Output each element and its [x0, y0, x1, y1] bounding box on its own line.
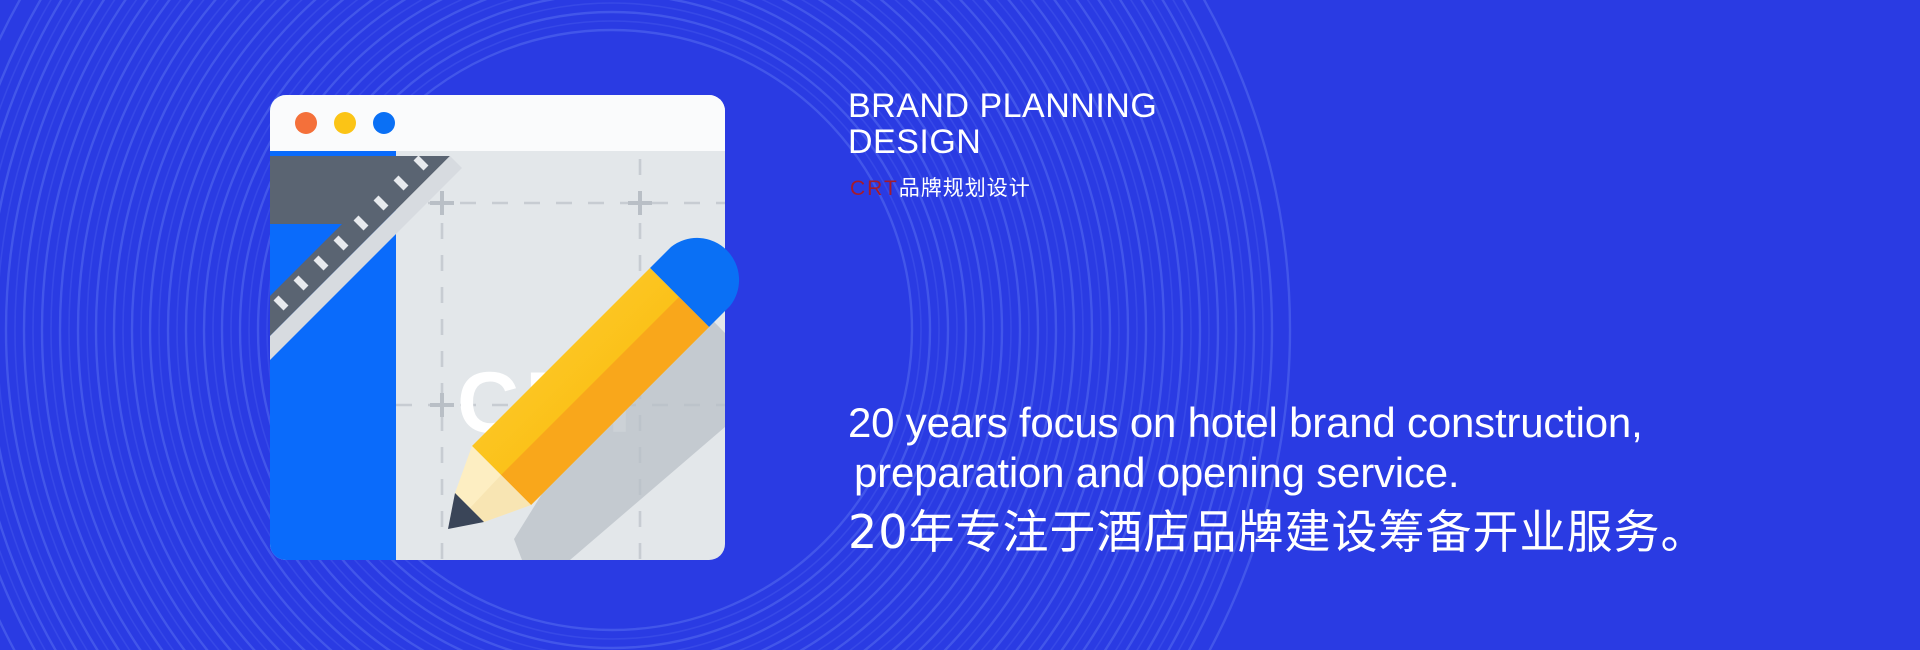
eyebrow-subtitle-cn: 品牌规划设计: [899, 176, 1031, 200]
eyebrow-line-1: BRAND PLANNING: [848, 87, 1157, 125]
close-dot-icon: [295, 112, 317, 134]
headline-chinese: 20年专注于酒店品牌建设筹备开业服务。: [848, 505, 1708, 560]
headline-english: 20 years focus on hotel brand constructi…: [848, 398, 1728, 497]
eyebrow-subtitle: CRT品牌规划设计: [850, 172, 1031, 202]
headline-en-line-2: preparation and opening service.: [848, 448, 1728, 498]
eyebrow-heading: BRAND PLANNING DESIGN: [848, 88, 1488, 160]
headline-en-line-1: 20 years focus on hotel brand constructi…: [848, 399, 1643, 446]
brand-design-illustration: CRT: [270, 95, 750, 560]
eyebrow-line-2: DESIGN: [848, 124, 1488, 160]
brand-mark-crt: CRT: [850, 177, 899, 200]
minimize-dot-icon: [334, 112, 356, 134]
banner-copy: BRAND PLANNING DESIGN CRT品牌规划设计 20 years…: [848, 0, 1908, 650]
brand-banner: CRT: [0, 0, 1920, 650]
maximize-dot-icon: [373, 112, 395, 134]
